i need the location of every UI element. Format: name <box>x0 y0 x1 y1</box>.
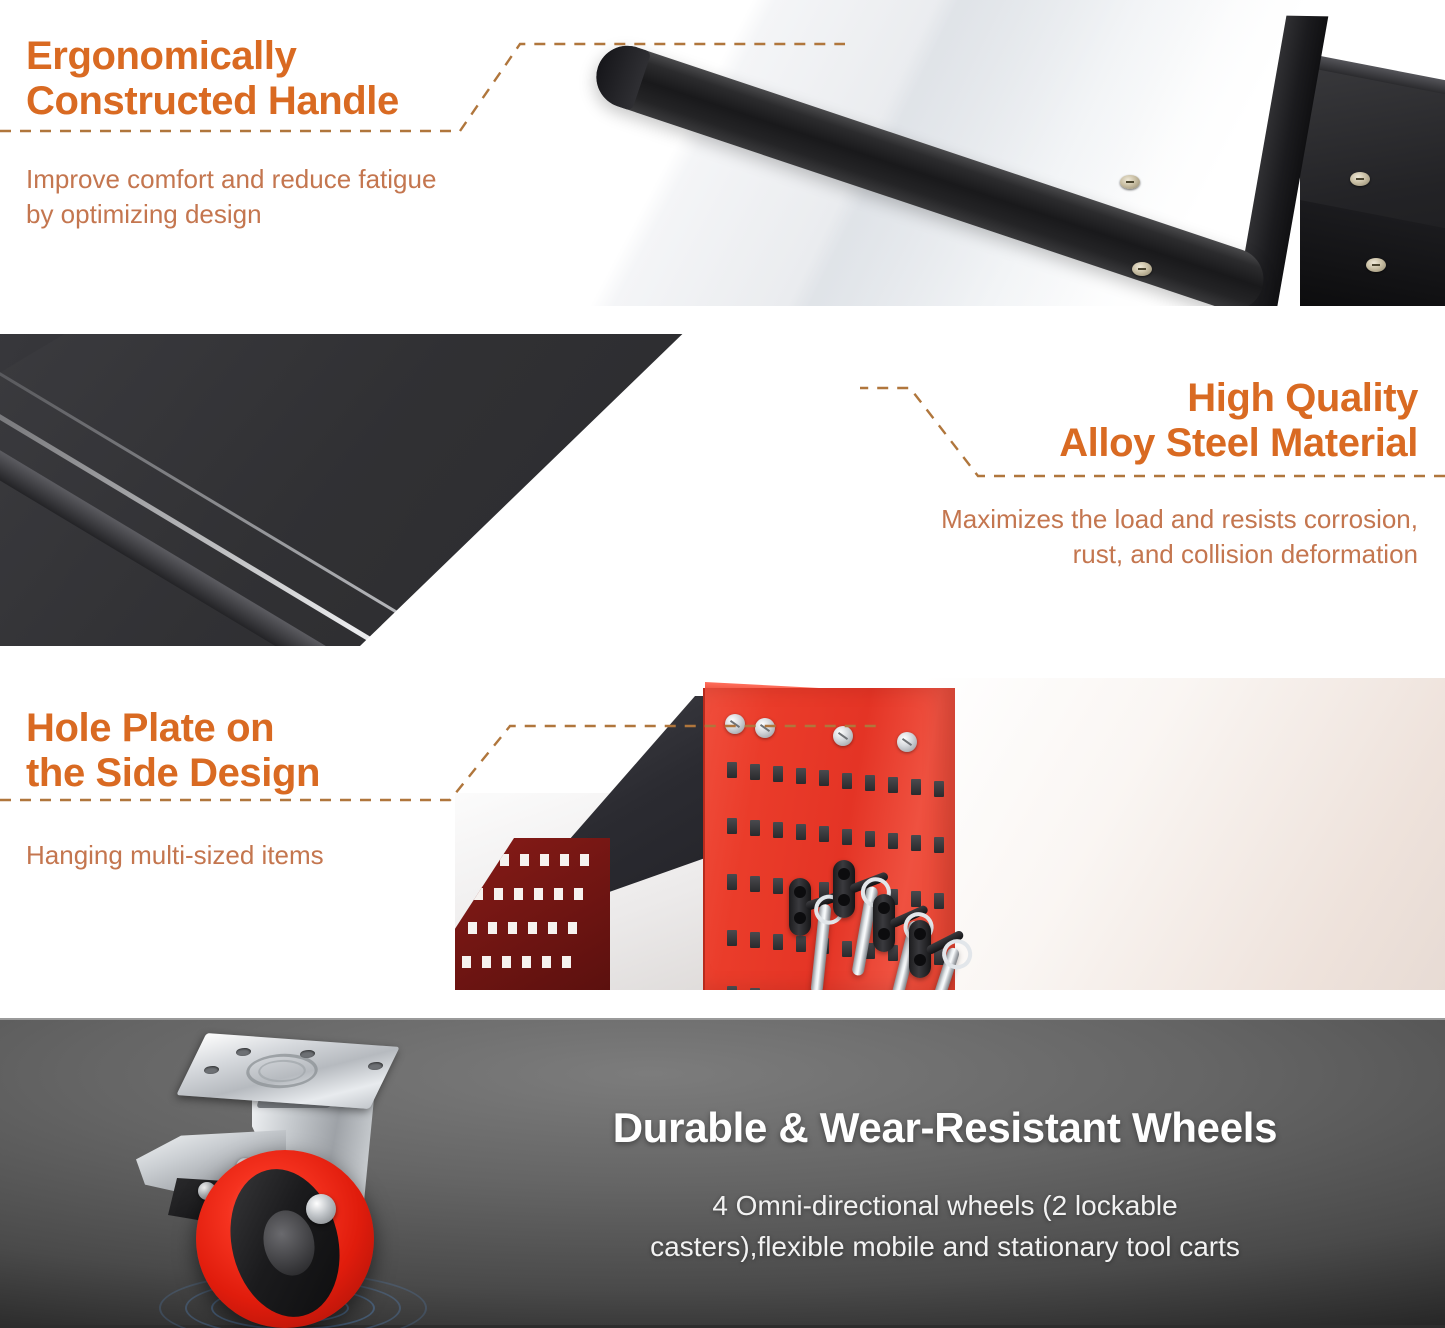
pegboard-hole <box>534 888 543 900</box>
wheels-text-block: Durable & Wear-Resistant Wheels 4 Omni-d… <box>480 1104 1410 1268</box>
infographic-page: Ergonomically Constructed Handle Improve… <box>0 0 1445 1328</box>
pegboard-hole <box>554 888 563 900</box>
pegboard-hole <box>508 922 517 934</box>
pegboard-hole <box>502 956 511 968</box>
wheels-title: Durable & Wear-Resistant Wheels <box>480 1104 1410 1152</box>
pegboard-hole <box>468 922 477 934</box>
pegboard-hole <box>580 854 589 866</box>
pegboard-hole <box>842 829 852 845</box>
pegboard-mounting-screw <box>897 732 917 752</box>
mount-screw <box>1366 258 1386 272</box>
pegboard-hole <box>773 934 783 950</box>
pegboard-hole <box>842 941 852 957</box>
pegboard-hole <box>750 932 760 948</box>
mount-screw <box>1350 172 1370 186</box>
pegboard-hole <box>562 956 571 968</box>
pegboard-hole <box>727 986 737 990</box>
pegboard-hole <box>750 876 760 892</box>
handle-text-block: Ergonomically Constructed Handle Improve… <box>26 34 546 233</box>
alloy-steel-text-block: High Quality Alloy Steel Material Maximi… <box>0 376 1418 573</box>
mount-screw <box>1120 175 1140 189</box>
pegboard-hole <box>773 878 783 894</box>
feature-panel-handle: Ergonomically Constructed Handle Improve… <box>0 0 1445 306</box>
pegboard-hole <box>542 956 551 968</box>
pegboard-hole <box>911 891 921 907</box>
hole-plate-subtitle: Hanging multi-sized items <box>26 838 506 874</box>
pegboard-hole <box>568 922 577 934</box>
pegboard-hole <box>865 831 875 847</box>
alloy-steel-title: High Quality Alloy Steel Material <box>0 376 1418 466</box>
pegboard-hole <box>796 936 806 952</box>
pegboard-hole <box>819 826 829 842</box>
handle-title: Ergonomically Constructed Handle <box>26 34 546 124</box>
pegboard-hole <box>522 956 531 968</box>
pegboard-hole <box>560 854 569 866</box>
pegboard-hole <box>911 835 921 851</box>
hole-plate-title: Hole Plate on the Side Design <box>26 706 506 796</box>
alloy-steel-subtitle: Maximizes the load and resists corrosion… <box>0 502 1418 574</box>
panel-top-divider <box>0 1018 1445 1020</box>
wheels-panel: Durable & Wear-Resistant Wheels 4 Omni-d… <box>0 1018 1445 1328</box>
mount-screw <box>1132 262 1152 276</box>
pegboard-hole <box>548 922 557 934</box>
caster-wheel-photo <box>128 1032 468 1328</box>
pegboard-hole <box>540 854 549 866</box>
hole-plate-text-block: Hole Plate on the Side Design Hanging mu… <box>26 706 506 873</box>
pegboard-hole <box>934 893 944 909</box>
pegboard-hole <box>727 930 737 946</box>
pegboard-hole <box>888 833 898 849</box>
pegboard-hole <box>488 922 497 934</box>
pegboard-hole <box>727 874 737 890</box>
wheels-subtitle: 4 Omni-directional wheels (2 lockable ca… <box>480 1186 1410 1268</box>
handle-subtitle: Improve comfort and reduce fatigue by op… <box>26 162 546 234</box>
pegboard-hole <box>520 854 529 866</box>
pegboard-hole <box>494 888 503 900</box>
pegboard-hole <box>934 837 944 853</box>
pegboard-hole <box>934 781 944 797</box>
caster-axle-bolt <box>306 1194 336 1224</box>
pegboard-hole <box>750 988 760 990</box>
pegboard-hole <box>462 956 471 968</box>
pegboard-hole <box>574 888 583 900</box>
pegboard-hole <box>482 956 491 968</box>
pegboard-hole <box>911 779 921 795</box>
pegboard-hole <box>528 922 537 934</box>
pegboard-hole <box>514 888 523 900</box>
